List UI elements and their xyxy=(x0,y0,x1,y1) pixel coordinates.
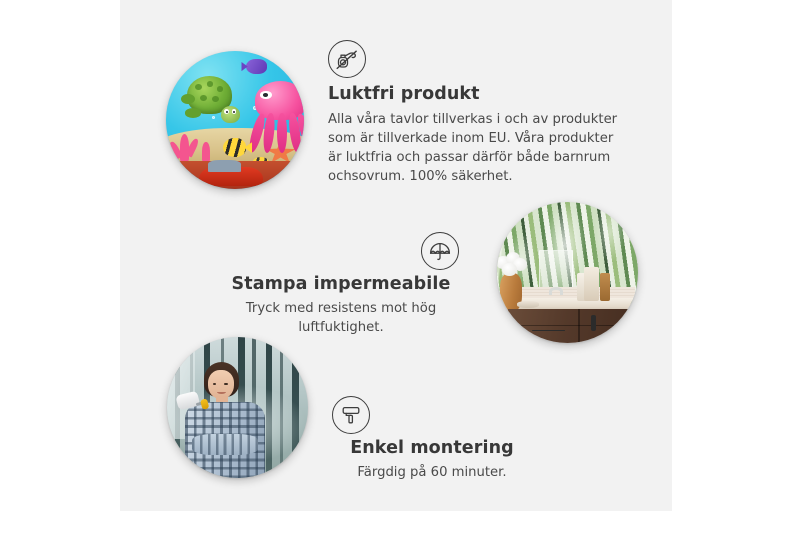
photo-underwater xyxy=(166,51,304,189)
feature-body: Färgdig på 60 minuter. xyxy=(312,464,552,483)
soap-dish xyxy=(517,301,540,308)
folded-arms xyxy=(192,434,258,455)
smile xyxy=(217,390,226,394)
sea-turtle-illustration xyxy=(180,76,239,128)
towel-roll xyxy=(584,267,598,301)
paint-roller-icon xyxy=(332,396,370,434)
turtle-eye xyxy=(224,109,229,114)
purple-fish-illustration xyxy=(246,59,267,74)
coral-mid xyxy=(202,142,210,161)
feature-body: Alla våra tavlor tillverkas i och av pro… xyxy=(328,111,628,187)
photo-forest-mural xyxy=(167,337,308,478)
photo-bathroom xyxy=(497,202,638,343)
faucet-icon xyxy=(545,287,568,300)
turtle-eye xyxy=(232,109,237,114)
feature-body: Tryck med resistens mot hög luftfuktighe… xyxy=(221,300,461,338)
wood-dispenser xyxy=(600,273,610,301)
cabinet-seam xyxy=(508,325,638,327)
octopus-tentacle xyxy=(277,113,287,153)
turtle-flipper xyxy=(185,108,202,117)
woman-illustration xyxy=(181,362,268,478)
feature-title: Luktfri produkt xyxy=(328,84,628,104)
promo-graphic: Luktfri produkt Alla våra tavlor tillver… xyxy=(0,0,800,533)
door-handle xyxy=(591,315,595,331)
white-flowers xyxy=(497,250,528,278)
red-car-illustration xyxy=(199,167,262,186)
octopus-illustration xyxy=(252,81,304,150)
no-fragrance-icon xyxy=(328,40,366,78)
turtle-head xyxy=(221,106,240,123)
octopus-eye xyxy=(260,91,271,99)
striped-fish-illustration xyxy=(223,138,246,157)
wooden-vanity-cabinet xyxy=(508,309,638,343)
feature-title: Stampa impermeabile xyxy=(221,274,461,294)
umbrella-icon xyxy=(421,232,459,270)
drawer-handle xyxy=(532,330,566,331)
feature-title: Enkel montering xyxy=(312,438,552,458)
